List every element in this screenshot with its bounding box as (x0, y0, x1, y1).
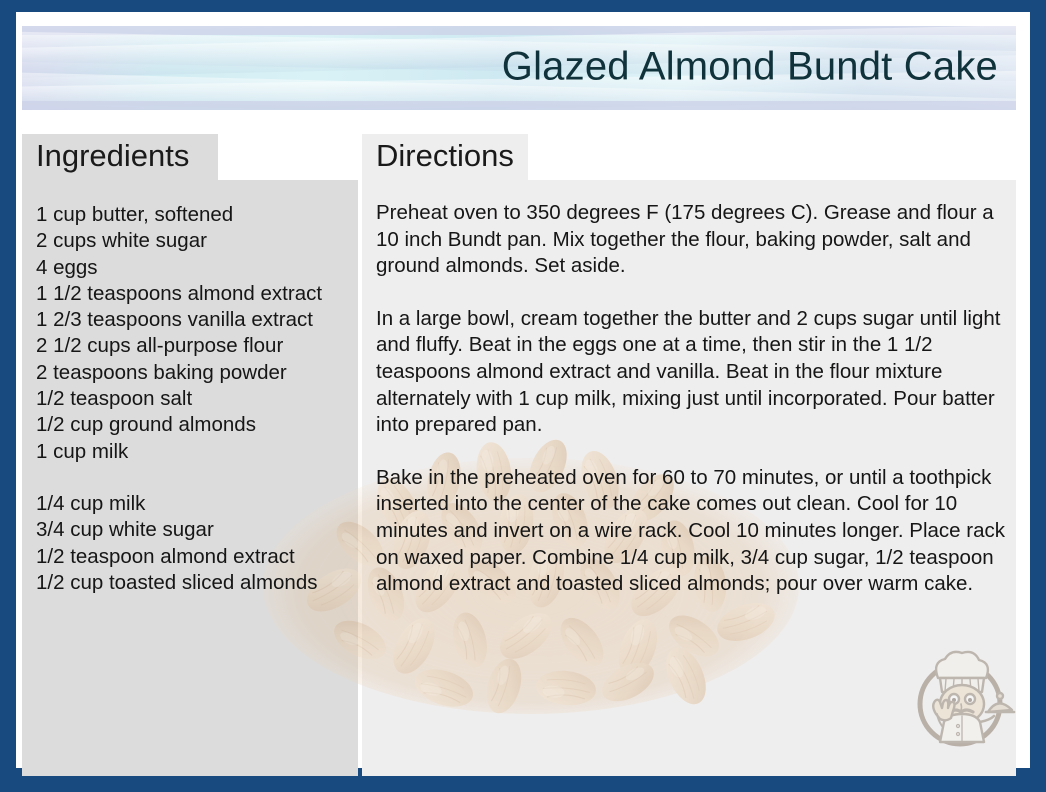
ingredients-heading: Ingredients (36, 138, 189, 174)
list-item: 1/2 teaspoon salt (36, 386, 348, 412)
list-item: 2 teaspoons baking powder (36, 360, 348, 386)
list-item: 1 2/3 teaspoons vanilla extract (36, 307, 348, 333)
chef-mascot-logo (904, 642, 1016, 754)
list-item: 2 cups white sugar (36, 228, 348, 254)
list-item: 1/4 cup milk (36, 491, 348, 517)
ingredients-tab-mask (218, 134, 358, 180)
direction-paragraph: In a large bowl, cream together the butt… (376, 306, 1006, 439)
recipe-title: Glazed Almond Bundt Cake (502, 45, 998, 90)
ingredients-list: 1 cup butter, softened 2 cups white suga… (36, 202, 348, 596)
list-item: 3/4 cup white sugar (36, 517, 348, 543)
list-item: 1 1/2 teaspoons almond extract (36, 281, 348, 307)
directions-heading: Directions (376, 138, 514, 174)
banner-top-edge (22, 26, 1016, 35)
directions-tab-mask (528, 134, 1016, 180)
title-banner: Glazed Almond Bundt Cake (22, 26, 1016, 110)
banner-bottom-edge (22, 101, 1016, 110)
direction-paragraph: Preheat oven to 350 degrees F (175 degre… (376, 200, 1006, 280)
directions-text: Preheat oven to 350 degrees F (175 degre… (376, 200, 1006, 624)
list-item: 1 cup milk (36, 439, 348, 465)
list-item: 1/2 cup toasted sliced almonds (36, 570, 348, 596)
ingredients-panel: Ingredients 1 cup butter, softened 2 cup… (22, 134, 358, 776)
list-item: 4 eggs (36, 255, 348, 281)
direction-paragraph: Bake in the preheated oven for 60 to 70 … (376, 465, 1006, 598)
list-item: 1 cup butter, softened (36, 202, 348, 228)
list-item: 1/2 teaspoon almond extract (36, 544, 348, 570)
recipe-page: Glazed Almond Bundt Cake Ingredients 1 c… (16, 12, 1030, 768)
list-item: 1/2 cup ground almonds (36, 412, 348, 438)
list-item: 2 1/2 cups all-purpose flour (36, 333, 348, 359)
ingredients-group-separator (36, 465, 348, 491)
slide-frame: Glazed Almond Bundt Cake Ingredients 1 c… (0, 0, 1046, 792)
